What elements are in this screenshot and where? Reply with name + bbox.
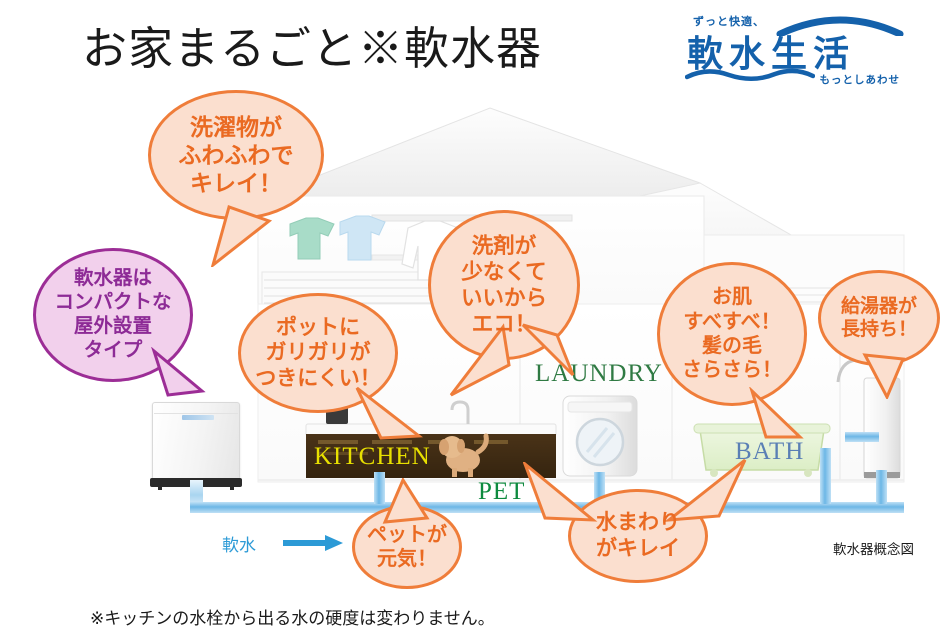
softener-foot-right bbox=[230, 486, 234, 490]
bubble-pet-healthy[interactable]: ペットが 元気！ bbox=[352, 505, 462, 589]
softener-foot-left bbox=[158, 486, 162, 490]
bubble-tail-icon bbox=[377, 478, 431, 524]
bubble-skin-hair[interactable]: お肌 すべすべ！ 髪の毛 さらさら！ bbox=[657, 262, 807, 406]
pipe-riser-heater bbox=[876, 470, 887, 504]
bubble-laundry-fluffy[interactable]: 洗濯物が ふわふわで キレイ！ bbox=[148, 90, 324, 220]
soft-water-label: 軟水 bbox=[222, 531, 256, 556]
room-label-pet: PET bbox=[478, 478, 525, 506]
bubble-text: 給湯器が 長持ち！ bbox=[841, 295, 917, 341]
infographic-canvas: KITCHEN LAUNDRY PET BATH 軟水 お家まるごと※軟水器 ず… bbox=[0, 0, 950, 633]
bubble-softener-compact[interactable]: 軟水器は コンパクトな 屋外設置 タイプ bbox=[33, 248, 193, 382]
bubble-text: ペットが 元気！ bbox=[367, 523, 447, 572]
bubble-tail-icon bbox=[861, 351, 909, 399]
bubble-text: 軟水器は コンパクトな 屋外設置 タイプ bbox=[54, 267, 171, 362]
bubble-text: お肌 すべすべ！ 髪の毛 さらさら！ bbox=[682, 285, 782, 383]
page-title: お家まるごと※軟水器 bbox=[82, 12, 542, 77]
arrow-right-icon bbox=[283, 534, 345, 552]
water-wave-icon bbox=[685, 68, 815, 82]
footnote-text: ※キッチンの水栓から出る水の硬度は変わりません。 bbox=[90, 604, 495, 629]
bubble-text: ポットに ガリガリが つきにくい！ bbox=[255, 315, 381, 392]
bubble-tail-icon bbox=[349, 384, 423, 444]
room-label-kitchen: KITCHEN bbox=[314, 443, 431, 471]
bubble-water-clean[interactable]: 水まわり がキレイ bbox=[568, 489, 708, 583]
pipe-heater-feed bbox=[845, 432, 879, 442]
softener-seam bbox=[154, 413, 238, 414]
water-softener-unit bbox=[152, 402, 240, 480]
bubble-tail-icon bbox=[211, 205, 281, 267]
diagram-caption: 軟水器概念図 bbox=[833, 538, 914, 558]
bubble-text: 洗濯物が ふわふわで キレイ！ bbox=[179, 113, 294, 197]
pipe-riser-bath bbox=[820, 448, 831, 504]
logo-tagline-bottom: もっとしあわせ bbox=[820, 72, 901, 87]
bubble-heater-durability[interactable]: 給湯器が 長持ち！ bbox=[818, 270, 940, 366]
bubble-text: 水まわり がキレイ bbox=[596, 510, 680, 561]
brand-logo: ずっと快適、 軟水生活 もっとしあわせ bbox=[683, 8, 908, 93]
bubble-text: 洗剤が 少なくて いいから エコ！ bbox=[461, 233, 547, 338]
bubble-tail-icon bbox=[744, 387, 808, 443]
softener-control-panel bbox=[182, 415, 214, 420]
bubble-pot-scale[interactable]: ポットに ガリガリが つきにくい！ bbox=[238, 293, 398, 413]
bubble-eco-detergent[interactable]: 洗剤が 少なくて いいから エコ！ bbox=[428, 210, 580, 360]
